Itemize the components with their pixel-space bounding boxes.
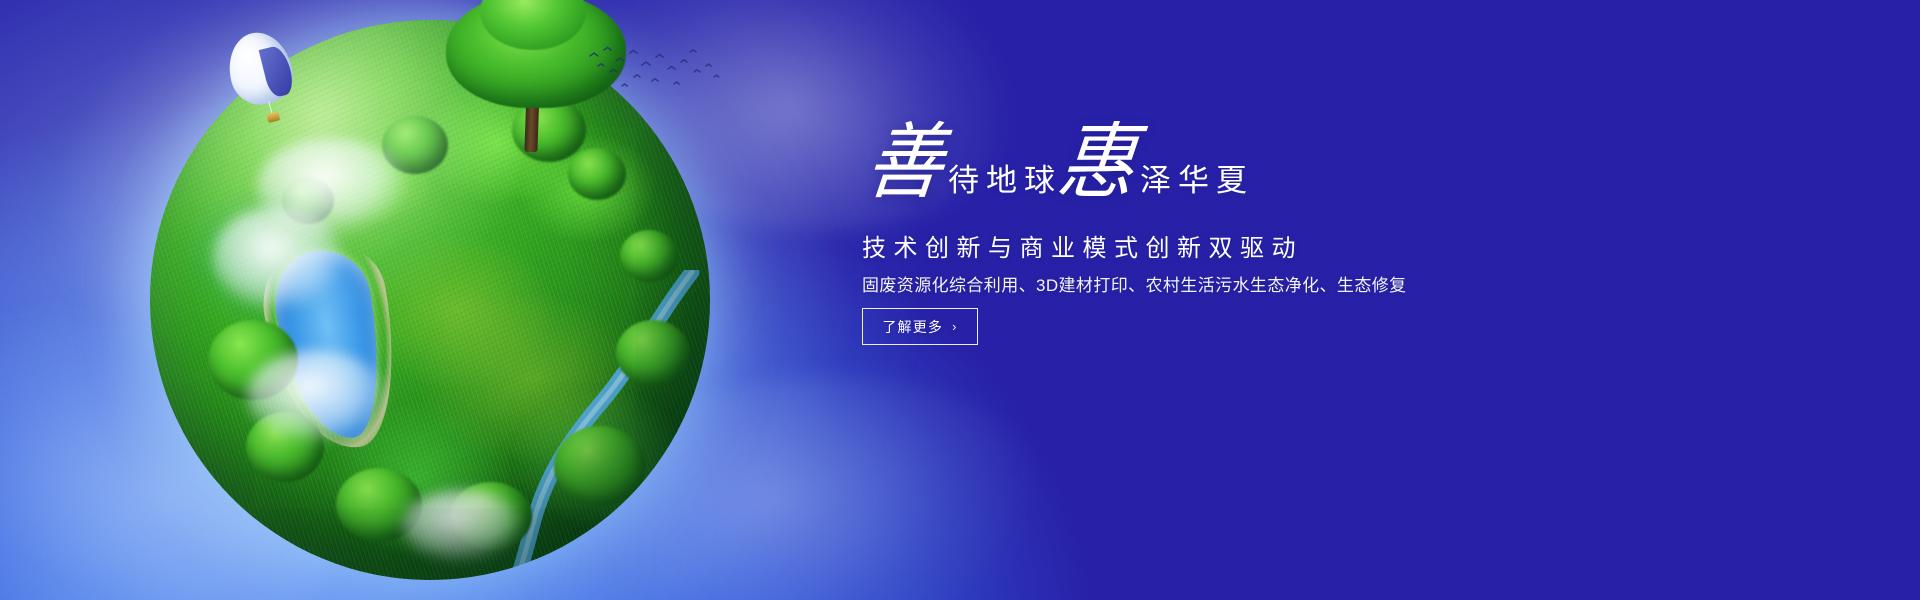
headline-small-text-1: 待地球 (948, 165, 1062, 205)
balloon-basket (266, 111, 280, 123)
headline-phrase-2: 惠 泽华夏 (1054, 132, 1254, 205)
headline-small-text-2: 泽华夏 (1140, 165, 1254, 205)
headline-phrase-1: 善 待地球 (862, 132, 1062, 205)
hero-banner: 善 待地球 惠 泽华夏 技术创新与商业模式创新双驱动 固废资源化综合利用、3D建… (0, 0, 1920, 600)
bird-flock-icon (586, 44, 726, 92)
chevron-right-icon: › (952, 320, 958, 333)
headline-big-char-1: 善 (862, 123, 947, 204)
banner-subtitle: 技术创新与商业模式创新双驱动 (862, 228, 1303, 263)
banner-content: 善 待地球 惠 泽华夏 技术创新与商业模式创新双驱动 固废资源化综合利用、3D建… (862, 0, 1862, 600)
globe-illustration (150, 20, 710, 580)
page-title: 善 待地球 惠 泽华夏 (862, 132, 1562, 218)
learn-more-button[interactable]: 了解更多 › (862, 308, 978, 345)
learn-more-label: 了解更多 (882, 317, 943, 337)
headline-big-char-2: 惠 (1054, 123, 1139, 204)
banner-description: 固废资源化综合利用、3D建材打印、农村生活污水生态净化、生态修复 (862, 271, 1407, 296)
